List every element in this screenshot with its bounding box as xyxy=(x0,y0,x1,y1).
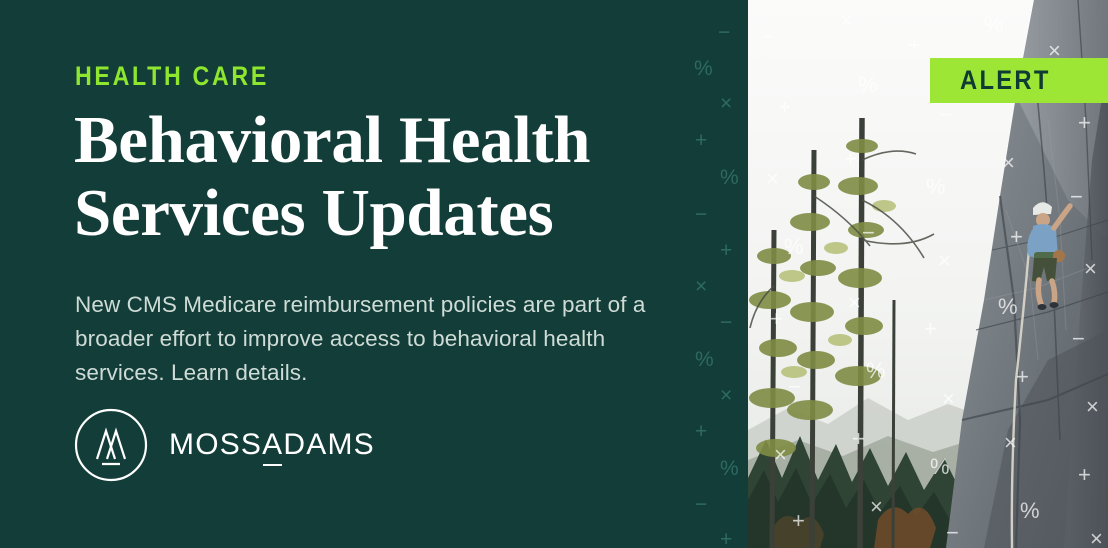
headline-line-1: Behavioral Health xyxy=(74,104,704,177)
wordmark-moss: MOSS xyxy=(169,428,262,461)
alert-badge: ALERT xyxy=(930,58,1108,103)
wordmark-a-underlined: A xyxy=(262,428,283,462)
body-copy: New CMS Medicare reimbursement policies … xyxy=(75,288,655,391)
moss-adams-wordmark: MOSSADAMS xyxy=(169,428,375,462)
content-panel: HEALTH CARE Behavioral Health Services U… xyxy=(0,0,748,548)
eyebrow-label: HEALTH CARE xyxy=(75,63,269,90)
headline-line-2: Services Updates xyxy=(74,177,704,250)
moss-adams-mountain-icon xyxy=(73,407,149,483)
page-title: Behavioral Health Services Updates xyxy=(74,104,704,250)
alert-badge-label: ALERT xyxy=(960,65,1051,96)
moss-adams-logo[interactable]: MOSSADAMS xyxy=(73,407,375,483)
wordmark-dams: DAMS xyxy=(283,428,374,461)
marketing-banner: −×+%×+%−×+×+%×−%−×+×+×+%−−%×+××+%×++×−%×… xyxy=(0,0,1108,548)
